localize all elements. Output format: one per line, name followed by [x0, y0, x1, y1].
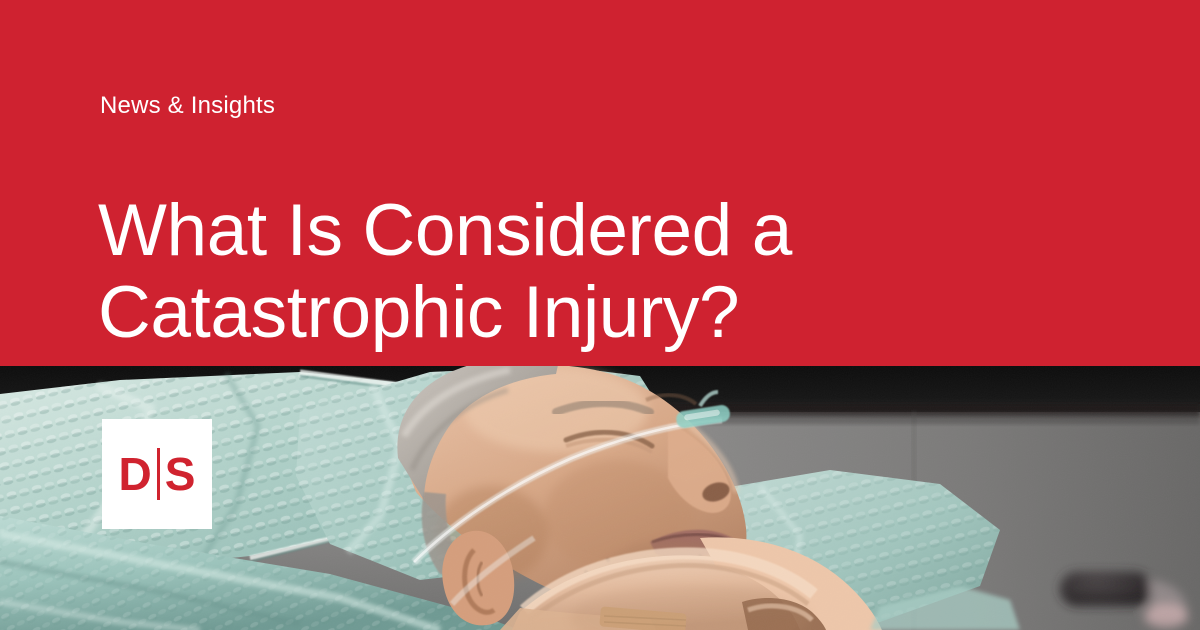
logo-mark: D S: [119, 451, 196, 497]
page-title-line-1: What Is Considered a: [98, 190, 918, 272]
category-eyebrow: News & Insights: [100, 94, 275, 118]
brand-logo[interactable]: D S: [102, 419, 212, 529]
article-share-card: News & Insights What Is Considered a Cat…: [0, 0, 1200, 630]
page-title: What Is Considered a Catastrophic Injury…: [98, 190, 918, 354]
hero-banner: News & Insights What Is Considered a Cat…: [0, 0, 1200, 366]
page-title-line-2: Catastrophic Injury?: [98, 272, 918, 354]
logo-letter-d: D: [119, 451, 152, 497]
logo-divider-bar: [157, 448, 160, 500]
logo-letter-s: S: [165, 451, 196, 497]
